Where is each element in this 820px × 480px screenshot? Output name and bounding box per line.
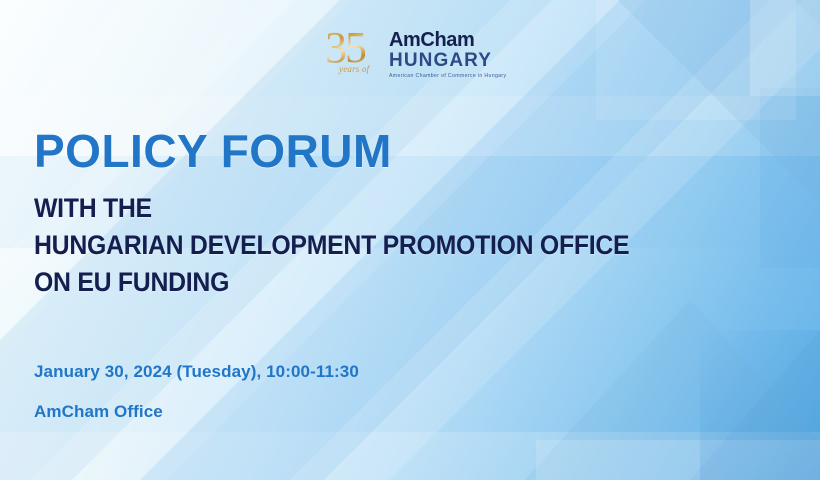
logo-tagline: American Chamber of Commerce in Hungary bbox=[389, 73, 506, 79]
subtitle-line-1: WITH THE bbox=[34, 190, 715, 227]
event-banner: 35 years of AmCham HUNGARY American Cham… bbox=[0, 0, 820, 480]
logo-brand-primary: AmCham bbox=[389, 30, 506, 50]
event-date-time: January 30, 2024 (Tuesday), 10:00-11:30 bbox=[34, 362, 634, 382]
logo-brand-secondary: HUNGARY bbox=[389, 51, 506, 71]
page-title: POLICY FORUM bbox=[34, 126, 774, 176]
logo-wordmark: AmCham HUNGARY American Chamber of Comme… bbox=[389, 28, 506, 79]
banner-content: 35 years of AmCham HUNGARY American Cham… bbox=[0, 0, 820, 480]
anniversary-35-mark: 35 years of bbox=[325, 28, 387, 80]
event-details-block: January 30, 2024 (Tuesday), 10:00-11:30 … bbox=[34, 362, 634, 422]
subtitle-line-2: HUNGARIAN DEVELOPMENT PROMOTION OFFICE bbox=[34, 227, 715, 264]
amcham-hungary-logo: 35 years of AmCham HUNGARY American Cham… bbox=[325, 28, 485, 84]
event-venue: AmCham Office bbox=[34, 402, 634, 422]
subtitle-line-3: ON EU FUNDING bbox=[34, 264, 715, 301]
anniversary-years-of-label: years of bbox=[339, 64, 369, 74]
headline-block: POLICY FORUM WITH THE HUNGARIAN DEVELOPM… bbox=[34, 126, 774, 301]
